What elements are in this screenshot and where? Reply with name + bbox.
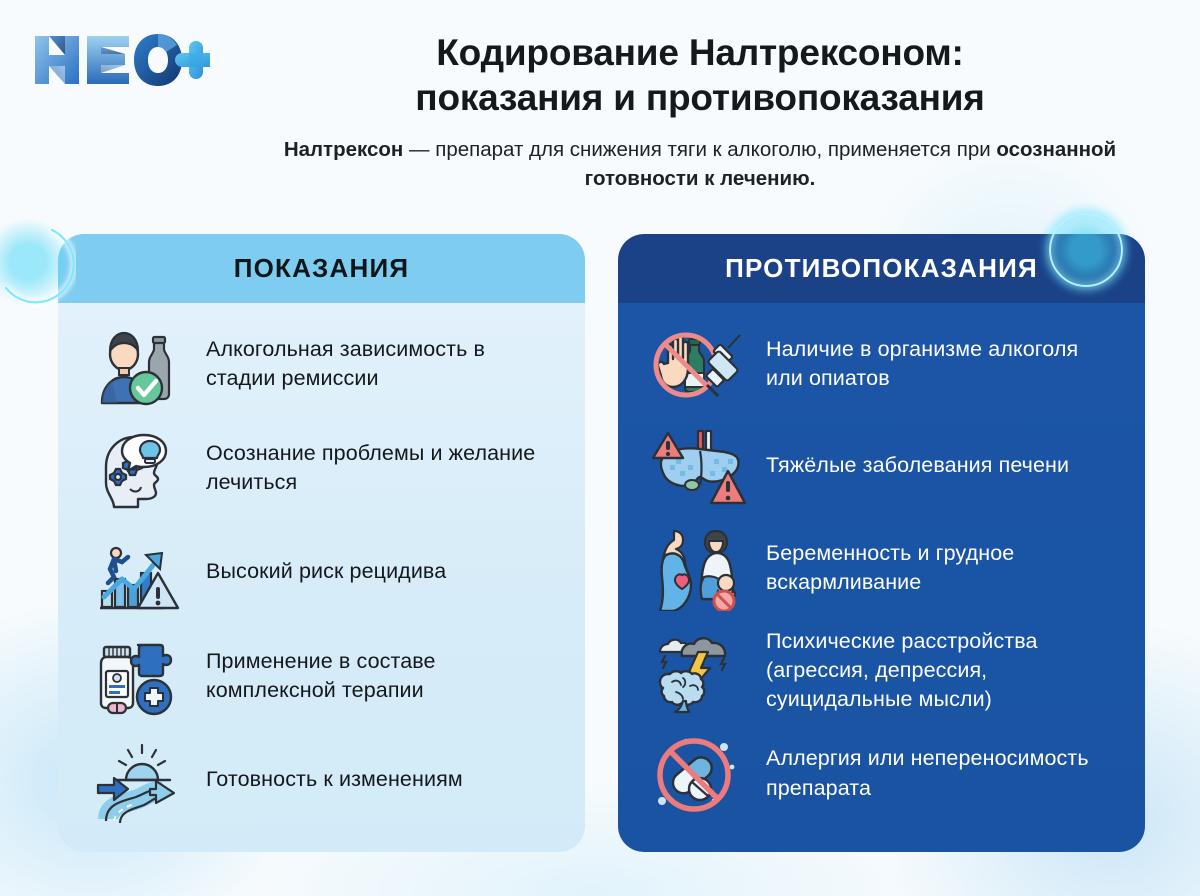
page-subtitle: Налтрексон — препарат для снижения тяги … (228, 136, 1172, 193)
list-item-label: Высокий риск рецидива (206, 557, 446, 586)
list-item[interactable]: Готовность к изменениям (92, 737, 555, 823)
person-bottle-check-icon (92, 321, 188, 407)
panels-container: ПОКАЗАНИЯ (0, 224, 1200, 864)
liver-warning-icon (652, 423, 748, 509)
list-item[interactable]: Беременность и грудное вскармливание (652, 525, 1115, 611)
list-item-label: Осознание проблемы и желание лечиться (206, 439, 555, 497)
page-header: Кодирование Налтрексоном: показания и пр… (0, 0, 1200, 212)
head-gears-lightbulb-icon (92, 425, 188, 511)
panel-indications-header: ПОКАЗАНИЯ (58, 234, 585, 303)
page-title-line-1: Кодирование Налтрексоном: (228, 30, 1172, 75)
panel-contraindications-header: ПРОТИВОПОКАЗАНИЯ (618, 234, 1145, 303)
pregnancy-breastfeeding-icon (652, 525, 748, 611)
list-item-label: Психические расстройства (агрессия, депр… (766, 627, 1115, 715)
list-item[interactable]: Применение в составе комплексной терапии (92, 633, 555, 719)
panel-contraindications-title: ПРОТИВОПОКАЗАНИЯ (725, 253, 1038, 284)
list-item-label: Наличие в организме алкоголя или опиатов (766, 335, 1115, 393)
list-item[interactable]: Аллергия или непереносимость препарата (652, 731, 1115, 817)
page-title: Кодирование Налтрексоном: показания и пр… (228, 30, 1172, 120)
panel-indications: ПОКАЗАНИЯ (58, 234, 585, 852)
list-item-label: Применение в составе комплексной терапии (206, 647, 555, 705)
panel-contraindications: ПРОТИВОПОКАЗАНИЯ (618, 234, 1145, 852)
list-item[interactable]: Тяжёлые заболевания печени (652, 423, 1115, 509)
panel-indications-title: ПОКАЗАНИЯ (234, 253, 410, 284)
subtitle-mid: — препарат для снижения тяги к алкоголю,… (403, 138, 996, 161)
list-item-label: Алкогольная зависимость в стадии ремисси… (206, 335, 555, 393)
brain-storm-cloud-icon (652, 628, 748, 714)
list-item-label: Беременность и грудное вскармливание (766, 539, 1115, 597)
pill-bottle-puzzle-cross-icon (92, 633, 188, 719)
no-pills-allergy-icon (652, 731, 748, 817)
stop-hand-bottle-syringe-icon (652, 321, 748, 407)
sunrise-road-arrow-icon (92, 737, 188, 823)
list-item[interactable]: Алкогольная зависимость в стадии ремисси… (92, 321, 555, 407)
list-item[interactable]: Психические расстройства (агрессия, депр… (652, 627, 1115, 715)
page-title-line-2: показания и противопоказания (228, 75, 1172, 120)
title-block: Кодирование Налтрексоном: показания и пр… (228, 30, 1172, 193)
subtitle-lead: Налтрексон (284, 138, 404, 161)
neo-plus-logo[interactable] (30, 28, 210, 92)
list-item[interactable]: Высокий риск рецидива (92, 529, 555, 615)
panel-indications-body: Алкогольная зависимость в стадии ремисси… (58, 303, 585, 852)
list-item[interactable]: Осознание проблемы и желание лечиться (92, 425, 555, 511)
rising-chart-warning-icon (92, 529, 188, 615)
list-item-label: Тяжёлые заболевания печени (766, 451, 1069, 480)
list-item-label: Аллергия или непереносимость препарата (766, 744, 1115, 802)
list-item-label: Готовность к изменениям (206, 765, 463, 794)
panel-contraindications-body: Наличие в организме алкоголя или опиатов (618, 303, 1145, 852)
list-item[interactable]: Наличие в организме алкоголя или опиатов (652, 321, 1115, 407)
